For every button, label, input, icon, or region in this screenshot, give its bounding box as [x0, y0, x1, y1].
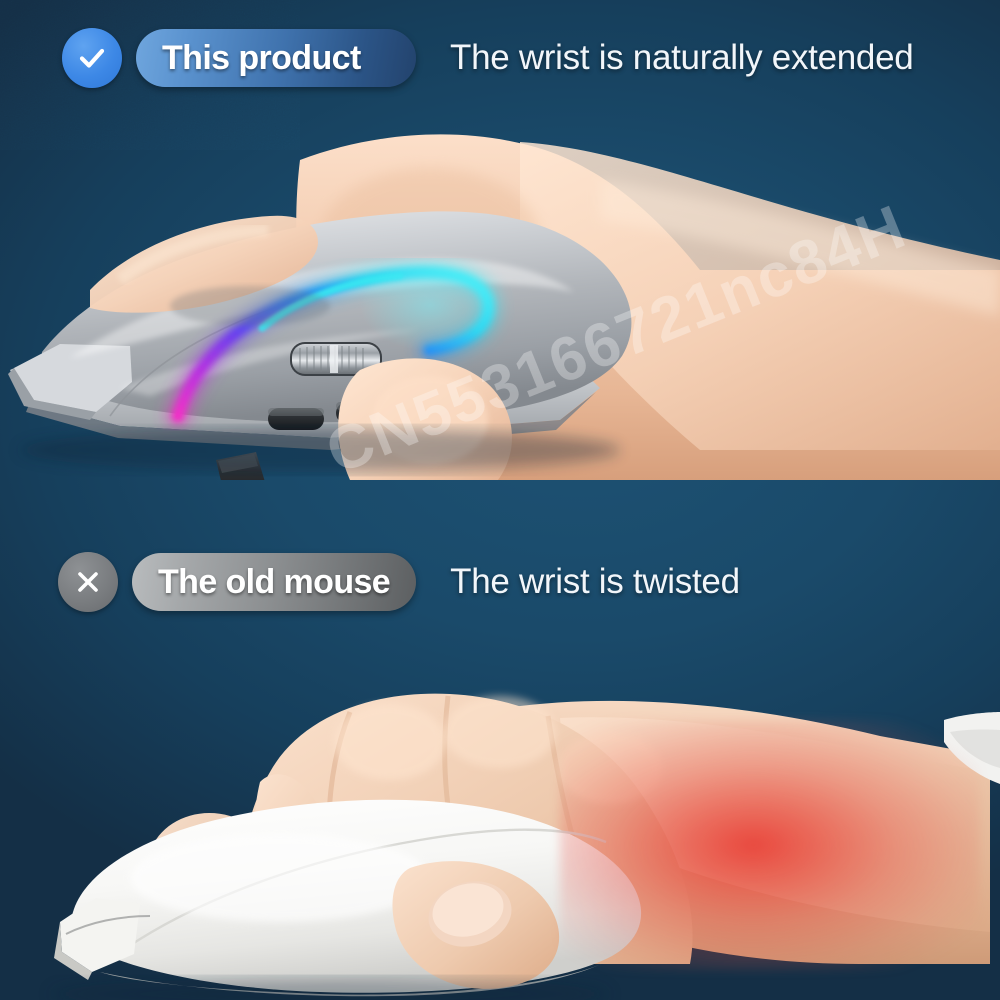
this-product-label: This product [162, 39, 361, 78]
conventional-mouse-illustration [0, 672, 1000, 1000]
section-header-this-product: This product The wrist is naturally exte… [62, 28, 913, 88]
white-mouse [54, 800, 641, 997]
ergonomic-mouse-illustration [0, 120, 1000, 480]
check-icon [62, 28, 122, 88]
infographic-canvas: CN553166721nc84H [0, 0, 1000, 1000]
this-product-pill: This product [136, 29, 416, 87]
headline-wrist-twisted: The wrist is twisted [450, 562, 740, 602]
old-mouse-pill: The old mouse [132, 553, 416, 611]
close-icon [58, 552, 118, 612]
section-header-old-mouse: The old mouse The wrist is twisted [58, 552, 740, 612]
old-mouse-label: The old mouse [158, 563, 390, 602]
photo-ergonomic-mouse: CN553166721nc84H [0, 120, 1000, 480]
photo-conventional-mouse [0, 672, 1000, 1000]
headline-naturally-extended: The wrist is naturally extended [450, 38, 913, 78]
